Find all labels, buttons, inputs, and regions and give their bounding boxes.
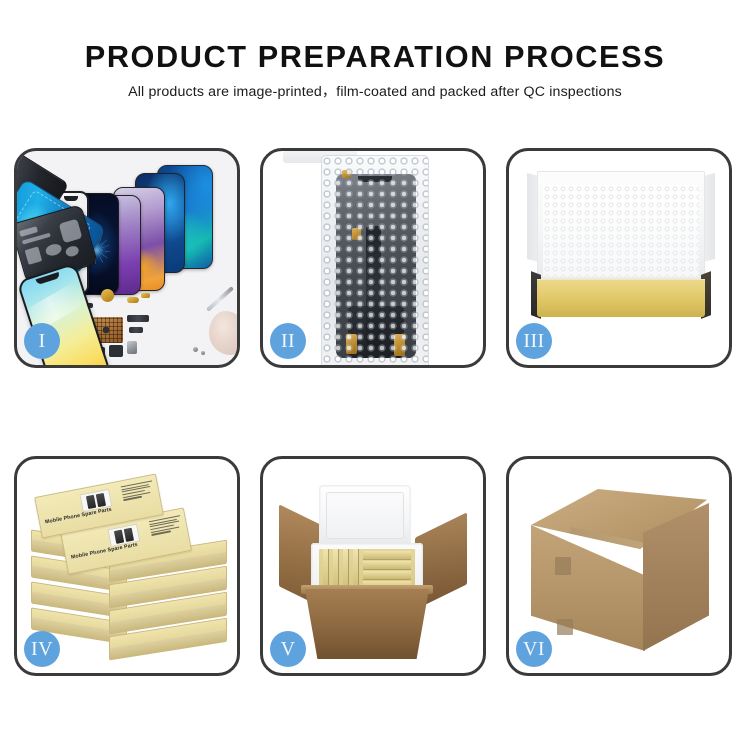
step-panel-1: I [14,148,240,368]
box-label-specs [149,515,183,535]
step-panel-6: VI [506,456,732,676]
phone-thumbnail-icon [124,527,134,541]
step-image-5: V [263,459,483,673]
step-panel-4: Mobile Phone Spare Parts Mobile Phone Sp… [14,456,240,676]
process-steps-grid: I II [14,148,736,676]
speaker-part-icon [101,289,114,302]
flex-cable-icon [129,327,143,333]
page-subtitle: All products are image-printed，film-coat… [0,84,750,101]
flex-cable-icon [127,315,149,322]
technician-hand-icon [209,311,237,355]
step-panel-5: V [260,456,486,676]
step-panel-2: II [260,148,486,368]
foam-cooler-lid-icon [319,485,411,547]
step-numeral-1: I [38,331,45,351]
step-badge-1: I [24,323,60,359]
step-image-4: Mobile Phone Spare Parts Mobile Phone Sp… [17,459,237,673]
step-numeral-2: II [281,331,295,351]
box-label-title: Mobile Phone Spare Parts [45,507,113,526]
step-image-3: III [509,151,729,365]
step-badge-5: V [270,631,306,667]
step-badge-2: II [270,323,306,359]
step-badge-6: VI [516,631,552,667]
mailer-front-panel-icon [537,279,705,317]
housing-detail [24,246,42,265]
gold-contact-icon [342,170,351,178]
battery-part-icon [109,345,123,357]
bubble-wrap-bag-icon [321,155,429,365]
housing-detail [59,219,83,244]
step-image-6: VI [509,459,729,673]
screw-part-icon [103,327,109,333]
phone-thumbnail-icon [86,494,96,508]
header: PRODUCT PREPARATION PROCESS All products… [0,40,750,101]
box-label-specs [121,480,155,500]
step-image-1: I [17,151,237,365]
housing-detail [44,242,62,257]
carton-tab-icon [555,557,571,575]
housing-detail [64,245,79,258]
step-numeral-5: V [281,639,296,659]
screw-part-icon [201,351,205,355]
connector-part-icon [141,293,150,298]
step-panel-3: III [506,148,732,368]
gold-contact-icon [352,228,361,240]
step-numeral-3: III [523,331,544,351]
step-badge-4: IV [24,631,60,667]
phone-thumbnail-icon [96,492,106,506]
product-preparation-infographic: PRODUCT PREPARATION PROCESS All products… [0,0,750,750]
step-badge-3: III [516,323,552,359]
step-numeral-6: VI [523,639,545,659]
vibrator-part-icon [127,341,137,354]
housing-detail [19,226,38,236]
tweezers-icon [206,286,234,312]
step-image-2: II [263,151,483,365]
phone-thumbnail-icon [114,529,124,543]
page-title: PRODUCT PREPARATION PROCESS [4,40,747,75]
shipping-carton-body-icon [305,589,429,659]
connector-part-icon [127,297,139,303]
screw-part-icon [193,347,198,352]
gold-contact-icon [394,334,405,356]
box-label-title: Mobile Phone Spare Parts [71,542,139,561]
carton-tab-icon [557,619,573,635]
foam-liner-icon [543,185,699,277]
gold-contact-icon [346,334,357,354]
step-numeral-4: IV [31,639,53,659]
lcd-notch-icon [358,176,392,182]
